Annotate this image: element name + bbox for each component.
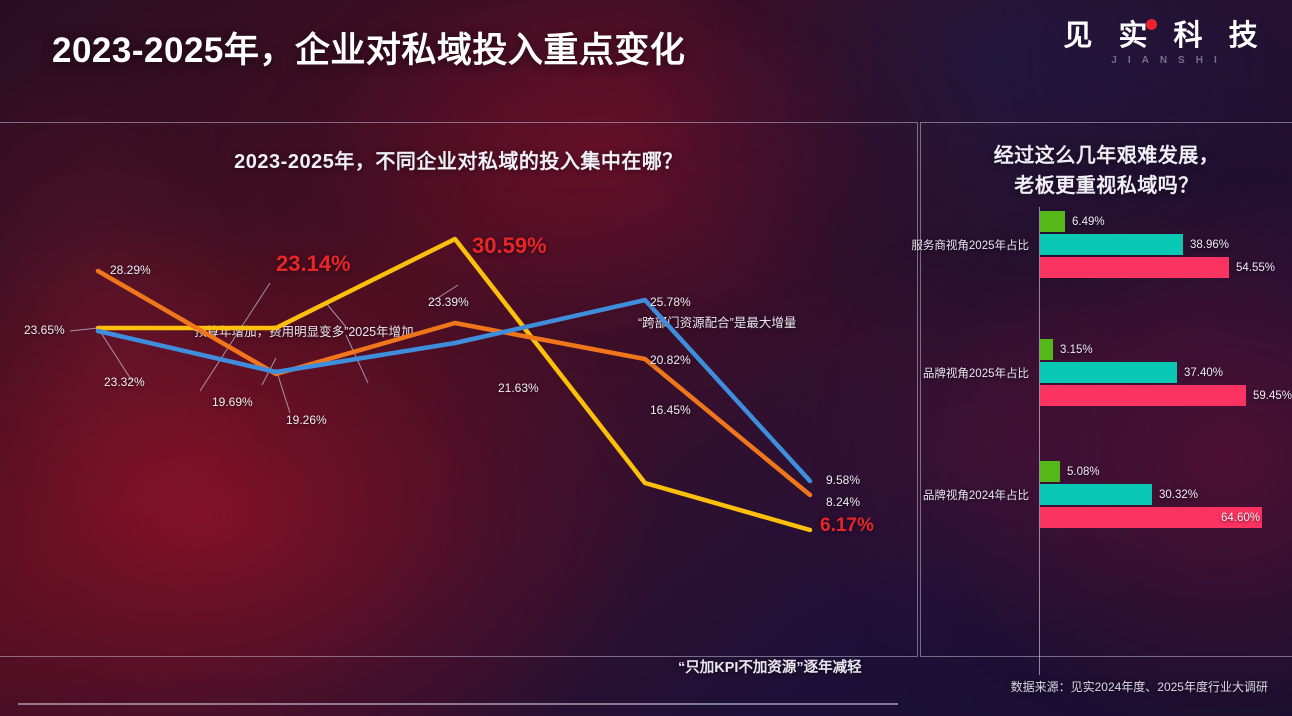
bar-chart-title: 经过这么几年艰难发展， 老板更重视私域吗？ bbox=[921, 141, 1292, 201]
point-label-highlight: 23.14% bbox=[276, 251, 351, 277]
line-chart-panel: 2023-2025年，不同企业对私域的投入集中在哪？ “预算年增加，费用明显变多… bbox=[0, 122, 918, 657]
bar-fill bbox=[1040, 461, 1060, 482]
point-label-highlight: 30.59% bbox=[472, 233, 547, 259]
logo-chinese-text: 见 实 科 技 bbox=[1063, 12, 1266, 54]
bar-value-label: 64.60% bbox=[1221, 512, 1260, 524]
point-label: 16.45% bbox=[650, 403, 691, 417]
bar-chart-plot: 服务商视角2025年占比 6.49% 38.96% 54.55% 品牌视角202… bbox=[921, 197, 1292, 667]
bar-row[interactable]: 5.08% bbox=[1040, 461, 1060, 482]
bar-fill bbox=[1040, 234, 1183, 255]
bar-value-label: 37.40% bbox=[1184, 367, 1223, 379]
bar-group: 品牌视角2025年占比 3.15% 37.40% 59.45% bbox=[921, 339, 1292, 409]
data-source-footer: 数据来源：见实2024年度、2025年度行业大调研 bbox=[1011, 678, 1268, 695]
logo-latin-text: JIANSHI bbox=[1060, 55, 1270, 66]
bar-fill bbox=[1040, 211, 1065, 232]
point-label: 23.65% bbox=[24, 323, 65, 337]
point-label: 20.82% bbox=[650, 353, 691, 367]
bar-group: 品牌视角2024年占比 5.08% 30.32% 64.60% bbox=[921, 461, 1292, 531]
bar-row[interactable]: 37.40% bbox=[1040, 362, 1177, 383]
bar-value-label: 38.96% bbox=[1190, 239, 1229, 251]
bar-chart-title-line1: 经过这么几年艰难发展， bbox=[921, 141, 1292, 171]
logo-red-dot-icon bbox=[1146, 19, 1157, 30]
bar-fill bbox=[1040, 339, 1053, 360]
point-label: 19.69% bbox=[212, 395, 253, 409]
point-label: 9.58% bbox=[826, 473, 860, 487]
bar-fill bbox=[1040, 484, 1152, 505]
point-label: 19.26% bbox=[286, 413, 327, 427]
bar-row[interactable]: 59.45% bbox=[1040, 385, 1246, 406]
line-chart-plot bbox=[0, 123, 918, 658]
bar-row[interactable]: 6.49% bbox=[1040, 211, 1065, 232]
point-label-highlight: 6.17% bbox=[820, 515, 874, 537]
point-label: 28.29% bbox=[110, 263, 151, 277]
bar-group-label: 品牌视角2025年占比 bbox=[889, 365, 1029, 381]
point-label: 21.63% bbox=[498, 381, 539, 395]
point-label: 8.24% bbox=[826, 495, 860, 509]
brand-logo: 见 实 科 技 JIANSHI bbox=[1060, 12, 1270, 66]
bar-value-label: 3.15% bbox=[1060, 344, 1093, 356]
bar-group-label: 品牌视角2024年占比 bbox=[889, 487, 1029, 503]
x-axis-rule bbox=[18, 703, 898, 705]
bar-row[interactable]: 30.32% bbox=[1040, 484, 1152, 505]
bar-value-label: 30.32% bbox=[1159, 489, 1198, 501]
bar-group: 服务商视角2025年占比 6.49% 38.96% 54.55% bbox=[921, 211, 1292, 281]
page-header: 2023-2025年，企业对私域投入重点变化 见 实 科 技 JIANSHI bbox=[0, 0, 1292, 118]
point-label: 23.39% bbox=[428, 295, 469, 309]
bar-value-label: 6.49% bbox=[1072, 216, 1105, 228]
bar-fill bbox=[1040, 385, 1246, 406]
bar-fill bbox=[1040, 362, 1177, 383]
bar-row[interactable]: 3.15% bbox=[1040, 339, 1053, 360]
bar-value-label: 54.55% bbox=[1236, 262, 1275, 274]
bar-value-label: 5.08% bbox=[1067, 466, 1100, 478]
bar-row[interactable]: 38.96% bbox=[1040, 234, 1183, 255]
bar-group-label: 服务商视角2025年占比 bbox=[889, 237, 1029, 253]
annotation-kpi: “只加KPI不加资源”逐年减轻 bbox=[678, 656, 862, 677]
bar-chart-panel: 经过这么几年艰难发展， 老板更重视私域吗？ 服务商视角2025年占比 6.49%… bbox=[920, 122, 1292, 657]
page-title: 2023-2025年，企业对私域投入重点变化 bbox=[52, 22, 685, 73]
point-label: 23.32% bbox=[104, 375, 145, 389]
bar-value-label: 59.45% bbox=[1253, 390, 1292, 402]
bar-row[interactable]: 54.55% bbox=[1040, 257, 1229, 278]
bar-fill bbox=[1040, 257, 1229, 278]
bar-row[interactable]: 64.60% bbox=[1040, 507, 1262, 528]
point-label: 25.78% bbox=[650, 295, 691, 309]
